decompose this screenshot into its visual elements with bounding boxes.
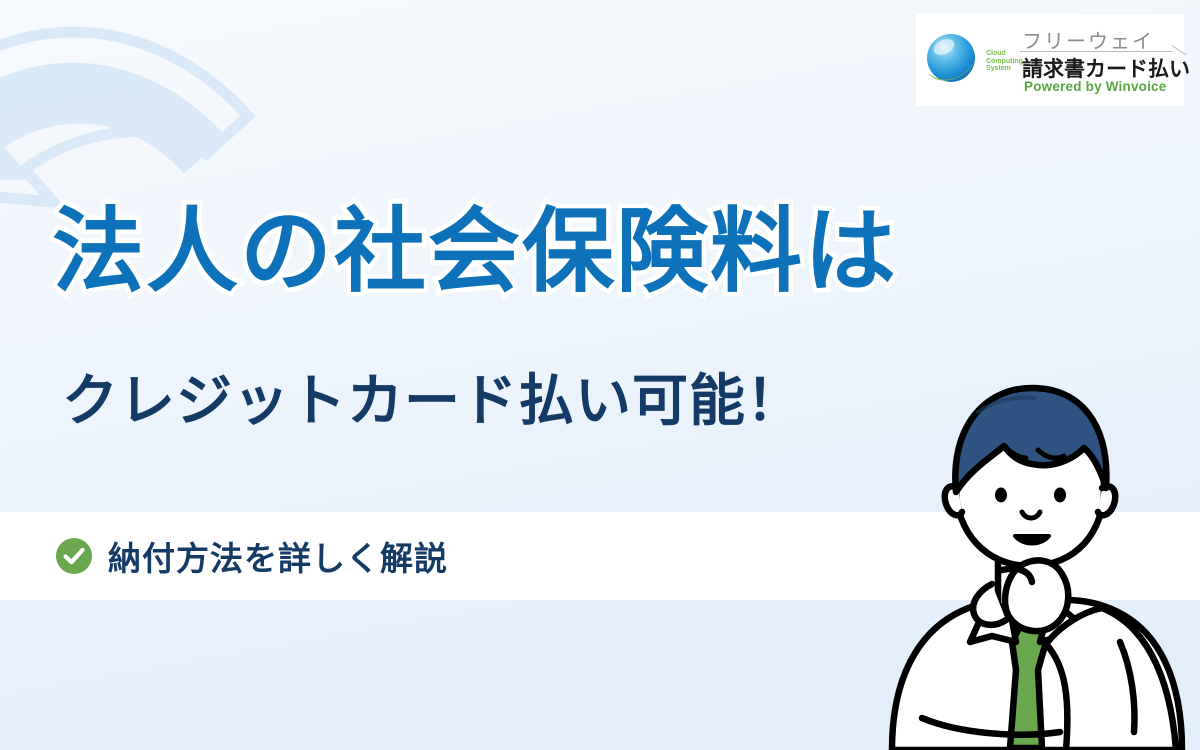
logo-sphere-leaf-icon — [920, 27, 986, 93]
logo-wordmark: フリーウェイ Cloud Computing System 請求書カード払い P… — [986, 23, 1180, 97]
check-circle-icon — [56, 538, 92, 574]
logo-divider — [1020, 51, 1172, 52]
feature-band: 納付方法を詳しく解説 — [0, 512, 1200, 600]
logo-cloud-caption: Cloud Computing System — [986, 50, 1020, 73]
logo-cloud-line-2: Computing — [986, 58, 1020, 66]
logo-powered-text: Powered by Winvoice — [1024, 79, 1166, 94]
logo-cloud-line-3: System — [986, 65, 1020, 73]
headline-primary: 法人の社会保険料は — [52, 204, 898, 301]
feature-band-label: 納付方法を詳しく解説 — [108, 532, 448, 580]
banner-root: フリーウェイ Cloud Computing System 請求書カード払い P… — [0, 0, 1200, 750]
logo-kana-text: フリーウェイ — [1022, 25, 1154, 54]
logo-cloud-line-1: Cloud — [986, 50, 1020, 58]
headline-secondary: クレジットカード払い可能！ — [62, 370, 803, 432]
brand-logo[interactable]: フリーウェイ Cloud Computing System 請求書カード払い P… — [916, 14, 1184, 106]
